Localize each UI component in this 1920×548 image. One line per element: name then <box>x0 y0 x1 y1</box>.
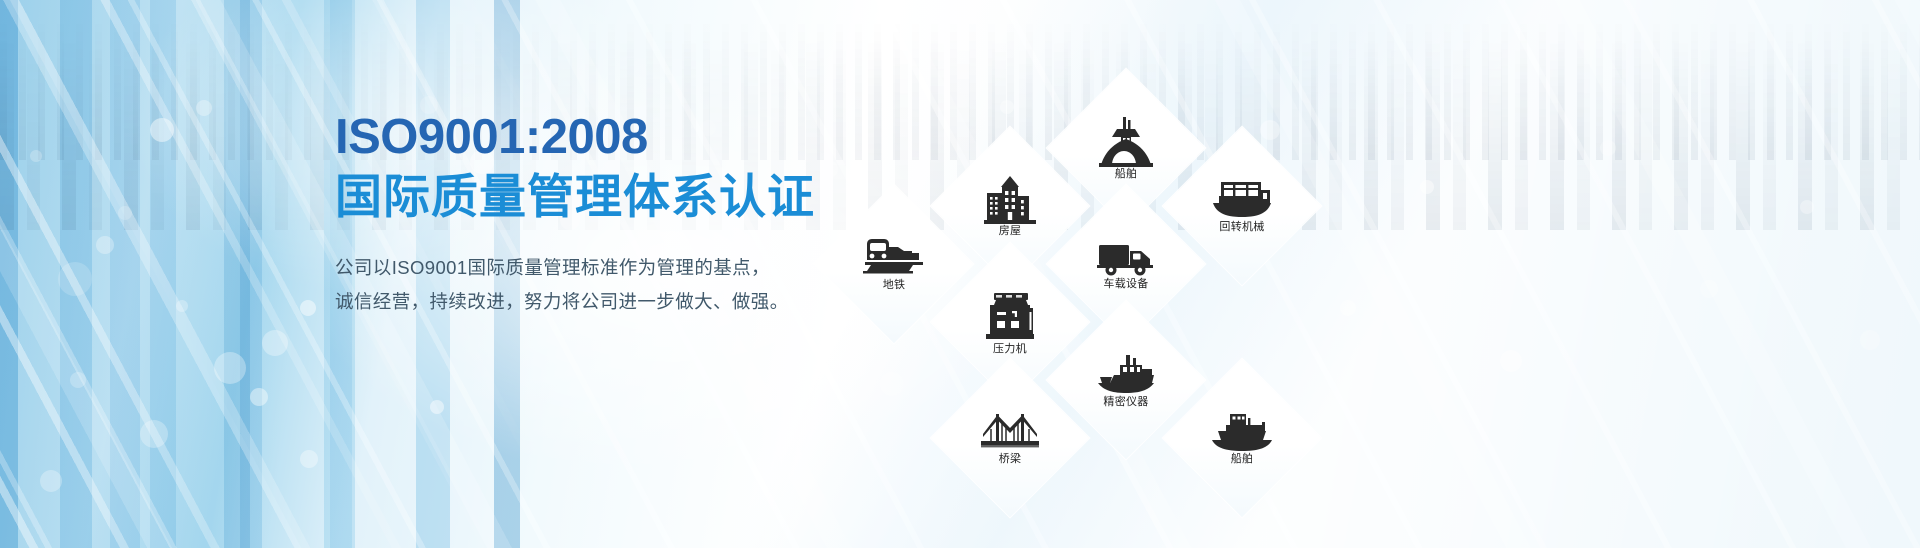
industry-tile-content: 精密仪器 <box>1070 324 1182 436</box>
bokeh-dot <box>1600 140 1616 156</box>
bokeh-dot <box>40 470 62 492</box>
industry-icon-grid: 地铁房屋压力机船舶车载设备回转机械桥梁精密仪器船舶 <box>838 92 1258 362</box>
ship-crane-icon <box>1099 117 1153 167</box>
industry-tile-label: 精密仪器 <box>1103 397 1148 408</box>
banner-title-cn: 国际质量管理体系认证 <box>335 169 855 224</box>
bokeh-dot <box>70 372 86 388</box>
bokeh-dot <box>430 400 444 414</box>
bokeh-dot <box>1420 180 1434 194</box>
bokeh-dot <box>1260 120 1280 140</box>
bokeh-dot <box>1800 200 1814 214</box>
bokeh-dot <box>880 372 904 396</box>
industry-tile-label: 压力机 <box>993 344 1027 355</box>
bokeh-dot <box>1700 280 1718 298</box>
industry-tile-label: 船舶 <box>1115 169 1138 180</box>
bokeh-dot <box>214 352 246 384</box>
cargo-ship-icon <box>1212 412 1272 452</box>
banner-description-line-2: 诚信经营，持续改进，努力将公司进一步做大、做强。 <box>335 285 855 319</box>
bokeh-dot <box>250 388 268 406</box>
industry-tile-label: 船舶 <box>1231 454 1254 465</box>
banner-description: 公司以ISO9001国际质量管理标准作为管理的基点， 诚信经营，持续改进，努力将… <box>335 251 855 319</box>
bokeh-dot <box>96 236 114 254</box>
bokeh-dot <box>150 118 174 142</box>
banner-text-block: ISO9001:2008 国际质量管理体系认证 公司以ISO9001国际质量管理… <box>335 112 855 319</box>
bokeh-dot <box>176 300 188 312</box>
bokeh-dot <box>300 450 318 468</box>
bokeh-dot <box>1500 350 1522 372</box>
building-icon <box>983 176 1037 224</box>
iso-certification-banner: ISO9001:2008 国际质量管理体系认证 公司以ISO9001国际质量管理… <box>0 0 1920 548</box>
press-machine-icon <box>984 290 1036 342</box>
industry-tile-label: 房屋 <box>999 226 1022 237</box>
bokeh-dot <box>30 150 42 162</box>
bokeh-dot <box>118 206 132 220</box>
subway-icon <box>863 238 925 278</box>
industry-tile-content: 回转机械 <box>1186 150 1298 262</box>
background-left-wash <box>0 0 300 548</box>
industry-tile-label: 地铁 <box>883 280 906 291</box>
bridge-icon <box>981 412 1039 452</box>
banner-description-line-1: 公司以ISO9001国际质量管理标准作为管理的基点， <box>335 251 855 285</box>
bokeh-dot <box>196 100 212 116</box>
bokeh-dot <box>1340 300 1356 316</box>
truck-icon <box>1097 239 1155 277</box>
rotary-machinery-icon <box>1211 180 1273 220</box>
precision-instrument-icon <box>1096 353 1156 395</box>
bokeh-dot <box>1860 330 1880 350</box>
industry-tile-label: 桥梁 <box>999 454 1022 465</box>
bokeh-dot <box>262 330 288 356</box>
industry-tile-content: 桥梁 <box>954 382 1066 494</box>
banner-title-en: ISO9001:2008 <box>335 112 855 163</box>
bokeh-dot <box>300 300 316 316</box>
industry-tile-label: 回转机械 <box>1219 222 1264 233</box>
industry-tile-cargo-ship[interactable]: 船舶 <box>1163 359 1321 517</box>
bokeh-dot <box>660 330 682 352</box>
industry-tile-content: 船舶 <box>1186 382 1298 494</box>
industry-tile-rotary-machinery[interactable]: 回转机械 <box>1163 127 1321 285</box>
bokeh-dot <box>58 262 92 296</box>
industry-tile-label: 车载设备 <box>1103 279 1148 290</box>
bokeh-dot <box>140 420 168 448</box>
industry-tile-content: 地铁 <box>838 208 950 320</box>
